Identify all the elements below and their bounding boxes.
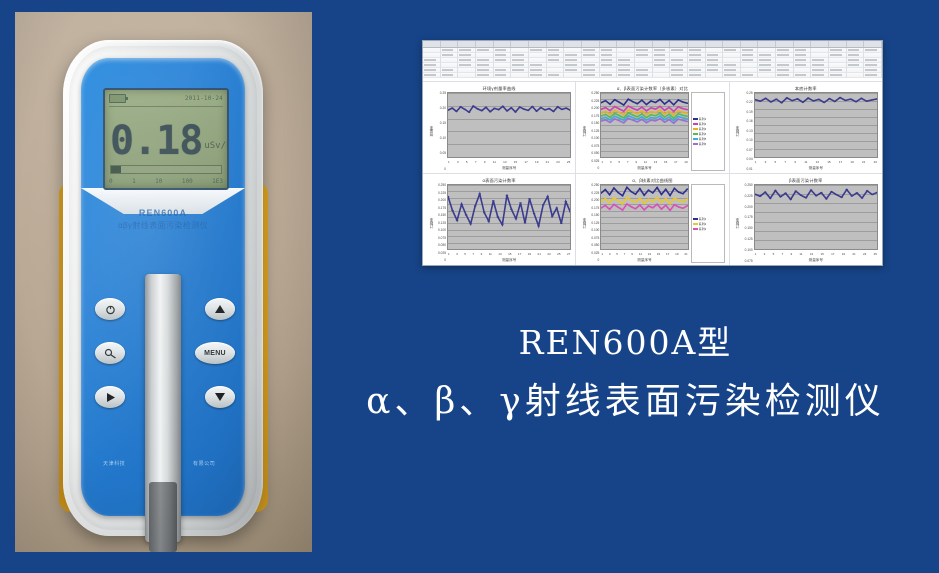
chart-data-point <box>659 118 661 119</box>
chart-body: 剂量率0.250.200.150.100.0501357911131517192… <box>427 92 571 171</box>
chart-legend-swatch <box>693 133 698 135</box>
chart-data-point <box>673 111 675 112</box>
chart-x-tick: 1 <box>601 252 603 256</box>
chart-data-point <box>626 197 628 198</box>
data-grid-col-header <box>794 41 812 47</box>
chart-data-point <box>665 205 667 206</box>
chart-series-svg <box>755 93 877 157</box>
chart-data-point <box>609 119 611 120</box>
chart-data-point <box>510 209 513 210</box>
chart-data-point <box>510 107 513 108</box>
chart-data-point <box>635 202 637 203</box>
chart-data-point <box>844 100 847 101</box>
chart-data-point <box>673 117 675 118</box>
chart-y-tick: 0.07 <box>746 149 752 152</box>
data-grid-cell <box>635 73 653 78</box>
chart-data-point <box>656 187 658 188</box>
chart-data-point <box>451 210 454 211</box>
chart-data-point <box>464 109 467 110</box>
chart-x-tick: 23 <box>556 160 559 164</box>
chart-y-tick: 0.10 <box>440 137 446 140</box>
chart-data-point <box>641 116 643 117</box>
chart-series-line <box>448 106 570 112</box>
chart-legend-item: 系列6 <box>693 142 723 146</box>
chart-data-point <box>661 194 663 195</box>
chart-body: 计数率0.2500.2250.2000.1750.1500.1250.1000.… <box>580 184 724 263</box>
chart-data-point <box>860 98 863 99</box>
triangle-right-icon <box>105 392 116 403</box>
chart-y-tick: 0.15 <box>440 122 446 125</box>
chart-data-point <box>646 119 648 120</box>
chart-y-axis-label-text: 计数率 <box>581 126 586 137</box>
search-button[interactable] <box>95 342 125 364</box>
lcd-bargraph-fill <box>111 166 121 173</box>
data-grid-col-header <box>511 41 529 47</box>
chart-data-point <box>682 115 684 116</box>
chart-y-tick: 0.100 <box>438 229 446 232</box>
chart-data-point <box>459 106 462 107</box>
chart-data-point <box>678 110 680 111</box>
chart-data-point <box>605 117 607 118</box>
data-grid-cell <box>458 73 476 78</box>
chart-y-tick: 0.150 <box>438 214 446 217</box>
chart-y-ticks: 0.250.200.150.100.050 <box>433 92 447 171</box>
chart-data-point <box>451 107 454 108</box>
chart-data-point <box>626 203 628 204</box>
chart-x-tick: 3 <box>610 160 612 164</box>
chart-x-tick: 15 <box>827 160 830 164</box>
chart-data-point <box>639 198 641 199</box>
chart-data-point <box>623 117 625 118</box>
chart-data-point <box>678 106 680 107</box>
chart-data-point <box>628 109 630 110</box>
chart-data-point <box>533 213 536 214</box>
chart-x-tick: 27 <box>567 252 570 256</box>
chart-title: α表面污染计数率 <box>427 177 571 184</box>
page-title: REN600A型 <box>318 322 933 364</box>
chart-x-tick: 1 <box>755 252 757 256</box>
chart-data-point <box>613 204 615 205</box>
chart-data-point <box>774 190 777 191</box>
chart-data-point <box>682 101 684 102</box>
chart-y-tick: 0.225 <box>745 195 753 198</box>
chart-y-tick: 0.150 <box>591 122 599 125</box>
chart-y-tick: 0.200 <box>591 199 599 202</box>
data-grid-col-header <box>458 41 476 47</box>
chart-x-tick: 25 <box>557 252 560 256</box>
chart-data-point <box>609 104 611 105</box>
chart-data-point <box>678 206 680 207</box>
chart-y-tick: 0.125 <box>591 130 599 133</box>
data-grid-cell <box>829 73 847 78</box>
chart-legend: 系列1系列2系列3 <box>691 184 725 263</box>
chart: 本底计数率计数率0.250.220.190.160.130.100.070.04… <box>730 82 882 173</box>
chart-data-point <box>682 201 684 202</box>
data-grid <box>423 41 882 79</box>
data-grid-cell <box>670 73 688 78</box>
chart-data-point <box>644 209 646 210</box>
chart-data-point <box>650 117 652 118</box>
data-grid-col-header <box>829 41 847 47</box>
chart-x-tick: 11 <box>493 160 496 164</box>
chart-legend-item: 系列1 <box>693 217 723 221</box>
chart-plot-area <box>754 92 878 158</box>
chart-x-tick: 13 <box>810 252 813 256</box>
chart-y-tick: 0.025 <box>591 252 599 255</box>
chart-data-point <box>665 189 667 190</box>
chart-x-tick: 21 <box>684 252 687 256</box>
chart-data-point <box>609 194 611 195</box>
chart-legend-label: 系列6 <box>699 142 707 146</box>
chart-data-point <box>514 111 517 112</box>
chart-data-point <box>637 116 639 117</box>
chart-data-point <box>648 189 650 190</box>
chart-y-axis-label-text: 剂量率 <box>428 126 433 137</box>
chart-y-tick: 0.225 <box>591 100 599 103</box>
chart-data-point <box>646 122 648 123</box>
chart-y-tick: 0.200 <box>591 107 599 110</box>
chart-data-point <box>614 118 616 119</box>
chart-y-tick: 0.150 <box>745 227 753 230</box>
chart-data-point <box>609 209 611 210</box>
data-grid-cell <box>582 73 600 78</box>
chart-data-point <box>635 194 637 195</box>
chart-data-point <box>618 192 620 193</box>
lcd-status-bar: 2011-10-24 <box>109 92 223 104</box>
chart-data-point <box>622 209 624 210</box>
chart-data-point <box>673 114 675 115</box>
chart-data-point <box>605 111 607 112</box>
chart-x-tick: 11 <box>799 252 802 256</box>
chart-y-tick: 0.200 <box>745 206 753 209</box>
chart-data-point <box>631 206 633 207</box>
data-grid-cell <box>476 73 494 78</box>
chart-data-point <box>661 202 663 203</box>
data-grid-col-header <box>706 41 724 47</box>
data-grid-cell <box>811 73 829 78</box>
chart-data-point <box>812 100 815 101</box>
chart-plot-wrap: 13579111315171921232527测量序号 <box>447 184 571 263</box>
chart-x-tick: 15 <box>657 252 660 256</box>
lcd-datetime: 2011-10-24 <box>185 95 223 102</box>
chart-data-point <box>619 115 621 116</box>
chart-x-tick: 5 <box>773 252 775 256</box>
chart-data-point <box>678 200 680 201</box>
data-grid-cell <box>688 73 706 78</box>
chart-data-point <box>605 198 607 199</box>
data-grid-cell <box>706 73 724 78</box>
chart-x-tick: 7 <box>627 160 629 164</box>
chart-plot-wrap: 135791113151719测量序号 <box>600 92 688 171</box>
chart-data-point <box>506 195 509 196</box>
chart-y-tick: 0.01 <box>746 168 752 171</box>
lcd-scale-tick: 1E3 <box>212 178 223 185</box>
chart-x-tick: 7 <box>784 160 786 164</box>
chart-data-point <box>619 117 621 118</box>
chart-data-point <box>682 117 684 118</box>
chart-data-point <box>641 110 643 111</box>
chart-legend-item: 系列4 <box>693 132 723 136</box>
play-button[interactable] <box>95 386 125 408</box>
chart-data-point <box>646 110 648 111</box>
chart-y-tick: 0.100 <box>591 229 599 232</box>
chart-plot-wrap: 1357911131517192123测量序号 <box>754 92 878 171</box>
chart-data-point <box>631 191 633 192</box>
chart-data-point <box>609 114 611 115</box>
chart-x-axis-label: 测量序号 <box>447 165 571 171</box>
chart-data-point <box>655 102 657 103</box>
chart-data-point <box>678 118 680 119</box>
chart-y-axis-label-text: 计数率 <box>581 218 586 229</box>
chart-data-point <box>493 108 496 109</box>
chart-data-point <box>626 187 628 188</box>
data-grid-cell <box>758 73 776 78</box>
chart-y-axis-label-text: 计数率 <box>734 126 739 137</box>
chart-data-point <box>609 202 611 203</box>
footnote-right: 有限公司 <box>193 460 215 467</box>
chart-data-point <box>801 102 804 103</box>
chart-data-point <box>775 98 778 99</box>
chart-plot-area <box>447 184 571 250</box>
chart-data-point <box>669 116 671 117</box>
chart-data-point <box>655 120 657 121</box>
chart-data-point <box>655 108 657 109</box>
chart-y-tick: 0.075 <box>438 237 446 240</box>
chart-title: β表面污染计数率 <box>734 177 878 184</box>
charts-area: 环境γ剂量率曲线剂量率0.250.200.150.100.05013579111… <box>423 81 882 265</box>
chart-data-point <box>468 111 471 112</box>
chart-y-tick: 0 <box>598 259 600 262</box>
data-grid-col-header <box>688 41 706 47</box>
chart-data-point <box>635 208 637 209</box>
up-button[interactable] <box>205 298 235 320</box>
chart-data-point <box>524 222 527 223</box>
chart-data-point <box>497 109 500 110</box>
chart-data-point <box>619 112 621 113</box>
chart-x-tick: 21 <box>538 252 541 256</box>
chart-x-tick: 25 <box>567 160 570 164</box>
chart-data-point <box>655 115 657 116</box>
chart-data-point <box>817 99 820 100</box>
chart-data-point <box>664 110 666 111</box>
lcd-value: 0.18 <box>110 122 202 160</box>
chart-data-point <box>614 113 616 114</box>
chart-data-point <box>539 107 542 108</box>
chart-legend-label: 系列5 <box>699 137 707 141</box>
chart-data-point <box>619 108 621 109</box>
chart-x-axis-label: 测量序号 <box>447 257 571 263</box>
chart-data-point <box>641 99 643 100</box>
chart-data-point <box>780 102 783 103</box>
chart-y-tick: 0.175 <box>591 115 599 118</box>
data-grid-col-header <box>811 41 829 47</box>
data-grid-cell <box>741 73 759 78</box>
chart-data-point <box>523 108 526 109</box>
chart-legend-item: 系列3 <box>693 127 723 131</box>
chart-x-tick: 3 <box>456 252 458 256</box>
chart-x-tick: 5 <box>464 252 466 256</box>
chart-data-point <box>519 202 522 203</box>
lcd-scale-tick: 0 <box>109 178 113 185</box>
chart-x-tick: 23 <box>863 252 866 256</box>
chart-data-point <box>609 117 611 118</box>
chart-data-point <box>850 195 853 196</box>
chart-data-point <box>609 110 611 111</box>
chart-x-tick: 3 <box>609 252 611 256</box>
chart-data-point <box>678 113 680 114</box>
chart-data-point <box>518 106 521 107</box>
chart-x-tick: 7 <box>475 160 477 164</box>
chart-data-point <box>650 100 652 101</box>
chart-x-tick: 15 <box>664 160 667 164</box>
chart-x-ticks: 135791113151719212325 <box>754 250 878 257</box>
chart-x-ticks: 135791113151719 <box>600 158 688 165</box>
chart-x-tick: 25 <box>874 252 877 256</box>
chart-x-tick: 9 <box>631 252 633 256</box>
power-icon <box>105 304 116 315</box>
chart-row: α表面污染计数率计数率0.2500.2250.2000.1750.1500.12… <box>423 173 882 265</box>
product-photo: 2011-10-24 0.18 uSv/h 01101001E3 REN600A… <box>15 12 312 552</box>
chart-data-point <box>659 113 661 114</box>
chart-x-tick: 17 <box>674 160 677 164</box>
chart-data-point <box>614 116 616 117</box>
chart-data-point <box>632 111 634 112</box>
chart-y-tick: 0.225 <box>438 192 446 195</box>
chart-data-point <box>641 113 643 114</box>
menu-button[interactable]: MENU <box>195 342 235 364</box>
chart-data-point <box>631 200 633 201</box>
chart-data-point <box>646 104 648 105</box>
data-grid-col-header <box>741 41 759 47</box>
chart-data-point <box>605 205 607 206</box>
chart-y-ticks: 0.2500.2250.2000.1750.1500.1250.1000.075 <box>740 184 754 263</box>
chart-data-point <box>652 192 654 193</box>
power-button[interactable] <box>95 298 125 320</box>
chart-legend-swatch <box>693 218 698 220</box>
chart-data-point <box>669 210 671 211</box>
chart-data-point <box>669 100 671 101</box>
chart-data-point <box>871 194 874 195</box>
chart-x-tick: 3 <box>457 160 459 164</box>
chart-data-point <box>632 119 634 120</box>
chart-plot-wrap: 13579111315171921测量序号 <box>600 184 688 263</box>
chart-data-point <box>682 111 684 112</box>
down-button[interactable] <box>205 386 235 408</box>
lcd-bargraph <box>110 165 222 174</box>
chart-data-point <box>664 113 666 114</box>
chart-y-tick: 0.100 <box>745 249 753 252</box>
chart-data-point <box>501 224 504 225</box>
chart-legend-label: 系列2 <box>699 122 707 126</box>
chart-legend-label: 系列1 <box>699 217 707 221</box>
chart-y-tick: 0.050 <box>438 244 446 247</box>
chart-x-tick: 5 <box>466 160 468 164</box>
chart-legend: 系列1系列2系列3系列4系列5系列6 <box>691 92 725 171</box>
chart-data-point <box>506 110 509 111</box>
data-grid-row <box>423 73 882 78</box>
chart-legend-item: 系列1 <box>693 117 723 121</box>
chart-data-point <box>656 203 658 204</box>
chart-data-point <box>644 203 646 204</box>
chart-y-tick: 0.250 <box>745 184 753 187</box>
chart-data-point <box>682 193 684 194</box>
chart-y-tick: 0.05 <box>440 152 446 155</box>
chart-data-point <box>655 112 657 113</box>
chart-x-ticks: 13579111315171921232527 <box>447 250 571 257</box>
chart-legend-item: 系列3 <box>693 227 723 231</box>
chart-data-point <box>806 97 809 98</box>
chart-data-point <box>682 120 684 121</box>
data-grid-col-header <box>617 41 635 47</box>
chart-data-point <box>569 211 570 212</box>
chart-data-point <box>622 195 624 196</box>
chart-data-point <box>605 189 607 190</box>
chart-data-point <box>849 98 852 99</box>
chart-data-point <box>485 107 488 108</box>
chart-y-tick: 0.25 <box>440 92 446 95</box>
chart-x-tick: 17 <box>839 160 842 164</box>
chart-data-point <box>814 195 817 196</box>
data-grid-col-header <box>564 41 582 47</box>
chart-data-point <box>678 116 680 117</box>
chart-data-point <box>460 203 463 204</box>
data-grid-cell <box>529 73 547 78</box>
chart-y-tick: 0.25 <box>746 92 752 95</box>
chart: 环境γ剂量率曲线剂量率0.250.200.150.100.05013579111… <box>423 82 576 173</box>
chart-data-point <box>639 204 641 205</box>
triangle-down-icon <box>214 392 226 402</box>
chart-legend-item: 系列5 <box>693 137 723 141</box>
chart-title: 环境γ剂量率曲线 <box>427 85 571 92</box>
chart-legend-swatch <box>693 143 698 145</box>
chart-data-point <box>474 205 477 206</box>
data-grid-col-header <box>847 41 865 47</box>
chart-x-tick: 9 <box>794 160 796 164</box>
chart: β表面污染计数率计数率0.2500.2250.2000.1750.1500.12… <box>730 174 882 265</box>
chart-y-tick: 0 <box>598 167 600 170</box>
chart-x-ticks: 1357911131517192123 <box>754 158 878 165</box>
chart-data-point <box>833 101 836 102</box>
chart-x-axis-label: 测量序号 <box>600 257 688 263</box>
chart-data-point <box>619 120 621 121</box>
chart-y-tick: 0.175 <box>745 216 753 219</box>
data-grid-cell <box>847 73 865 78</box>
chart-data-point <box>501 106 504 107</box>
chart-x-ticks: 135791113151719212325 <box>447 158 571 165</box>
chart-data-point <box>555 207 558 208</box>
chart-data-point <box>605 107 607 108</box>
data-grid-cell <box>441 73 459 78</box>
chart-y-tick: 0.10 <box>746 139 752 142</box>
chart-legend-swatch <box>693 128 698 130</box>
chart-data-point <box>469 223 472 224</box>
chart-data-point <box>565 107 568 108</box>
chart-data-point <box>639 188 641 189</box>
chart-x-tick: 1 <box>601 160 603 164</box>
chart-data-point <box>619 102 621 103</box>
data-grid-cell <box>511 73 529 78</box>
chart-data-point <box>682 108 684 109</box>
chart-series-svg <box>755 185 877 249</box>
chart-y-tick: 0.125 <box>591 222 599 225</box>
chart-y-tick: 0.050 <box>591 152 599 155</box>
data-grid-col-header <box>776 41 794 47</box>
chart-data-point <box>641 106 643 107</box>
chart-x-tick: 17 <box>831 252 834 256</box>
chart-y-tick: 0.04 <box>746 158 752 161</box>
chart-data-point <box>789 199 792 200</box>
chart-y-tick: 0.225 <box>591 192 599 195</box>
